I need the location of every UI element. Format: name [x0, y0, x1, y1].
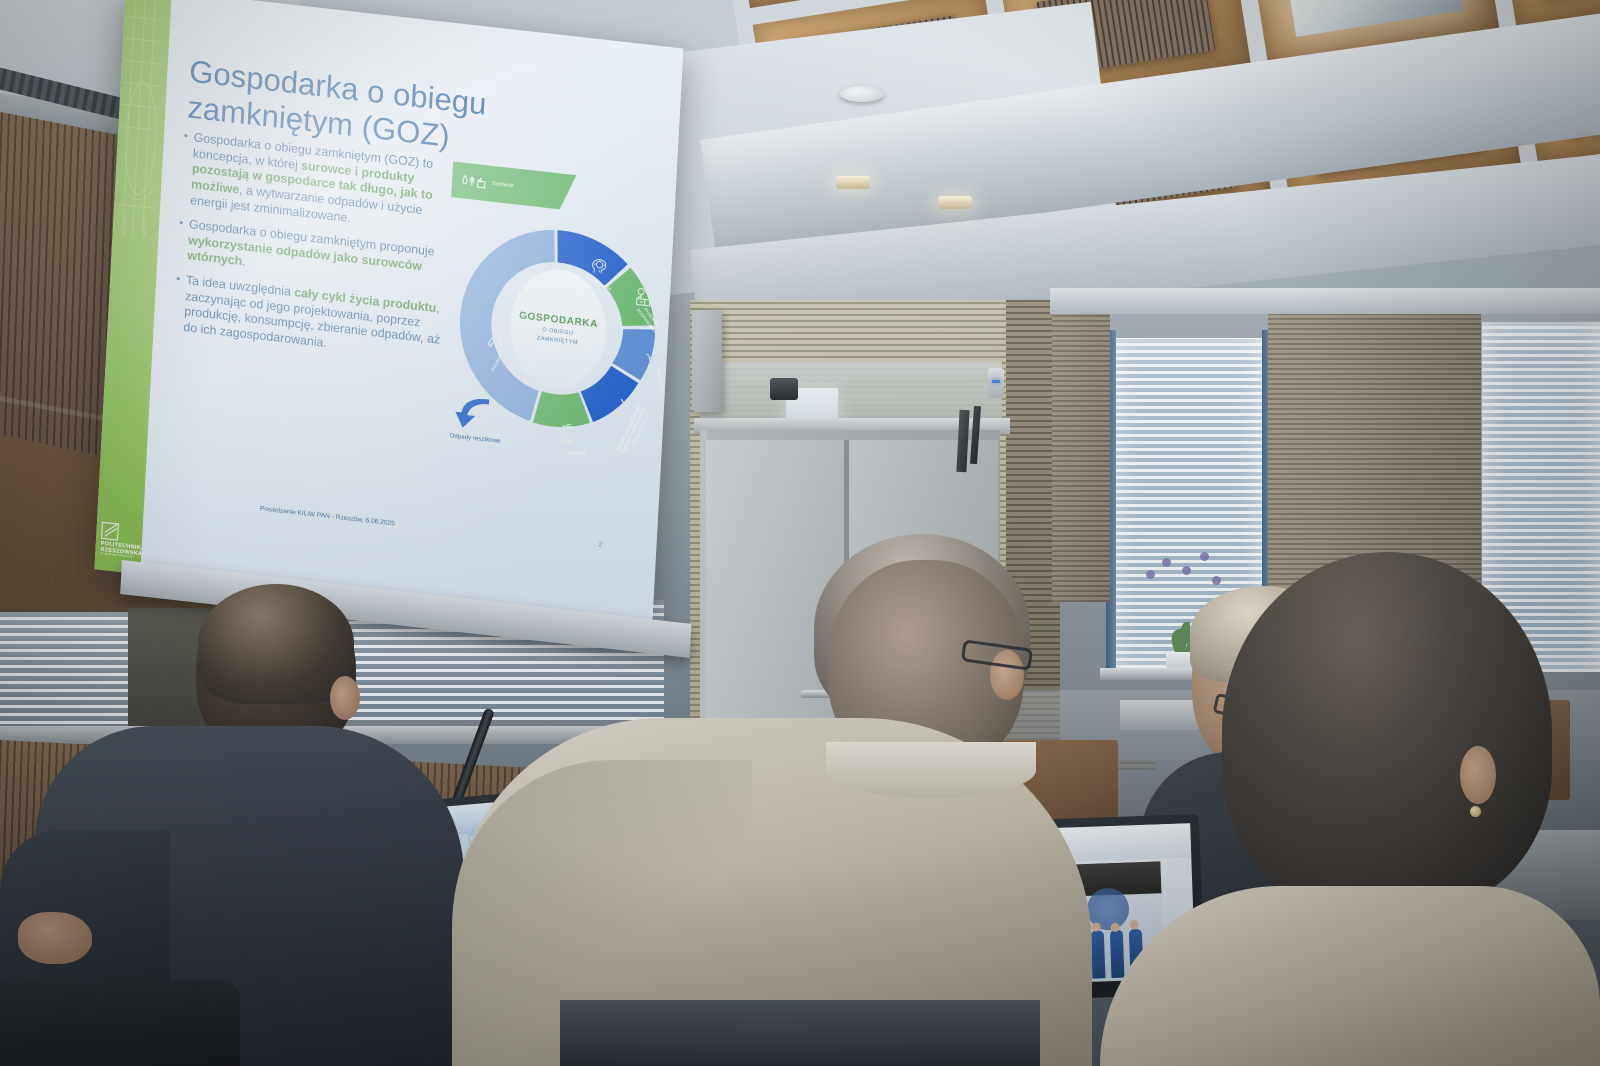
university-mark-icon — [101, 521, 119, 540]
smoke-detector-icon — [840, 86, 884, 102]
window-header-rail — [1050, 288, 1600, 314]
diagram-segment-label-zbieranie: Zbieranie — [553, 450, 599, 456]
circular-economy-diagram: Surowce — [446, 154, 684, 510]
window-blind[interactable] — [1052, 312, 1110, 602]
slide-body: Gospodarka o obiegu zamkniętym (GOZ) •Go… — [140, 0, 683, 632]
presenter-hair — [198, 584, 354, 704]
presenter-hand — [18, 912, 92, 964]
bin-recycle-icon — [558, 420, 579, 444]
robe-figure — [1091, 930, 1106, 979]
bullet-dot-icon: • — [173, 272, 180, 335]
window-blind-left[interactable] — [0, 612, 130, 732]
orchid-flower-icon — [1200, 552, 1209, 561]
projection-screen: KATEDRA DRÓG I MOSTÓW WYDZIAŁ BUDOWNICTW… — [94, 0, 683, 632]
bullet-dot-icon: • — [177, 216, 183, 263]
earring-icon — [1470, 806, 1481, 817]
slide-footer: Posiedzenie KILiW PAN - Rzeszów, 6.06.20… — [260, 505, 395, 527]
presenter-ear — [330, 676, 360, 720]
orchid-flower-icon — [1182, 566, 1191, 575]
orchid-flower-icon — [1162, 558, 1171, 567]
slide-surface: KATEDRA DRÓG I MOSTÓW WYDZIAŁ BUDOWNICTW… — [94, 0, 683, 632]
wall-speaker-icon — [692, 310, 722, 412]
foreground-desk — [560, 1000, 1040, 1066]
photo-face — [1130, 920, 1139, 929]
recessed-light-icon — [1285, 0, 1463, 37]
screenshot-root: KATEDRA DRÓG I MOSTÓW WYDZIAŁ BUDOWNICTW… — [0, 0, 1600, 1066]
bullet-dot-icon: • — [180, 129, 188, 207]
curved-arrow-icon — [455, 395, 491, 433]
robe-figure — [1109, 929, 1124, 978]
motion-sensor-icon — [988, 368, 1004, 398]
diagram-center-line3: ZAMKNIĘTYM — [537, 335, 578, 346]
orchid-flower-icon — [1212, 576, 1221, 585]
diagram-center-line2: O OBIEGU — [542, 327, 574, 337]
attendee-center-collar — [826, 742, 1036, 798]
attendee-right-hair — [1222, 552, 1552, 912]
university-logo: POLITECHNIKA RZESZOWSKA im. Ignacego Łuk… — [100, 521, 140, 560]
projector-icon — [770, 378, 798, 400]
presenter-chair — [0, 980, 240, 1066]
downlight-icon — [938, 196, 972, 209]
head-gear-icon — [589, 255, 610, 277]
downlight-icon — [836, 176, 870, 189]
slide-page-number: 2 — [598, 541, 602, 548]
diagram-center-line1: GOSPODARKA — [519, 310, 598, 330]
attendee-right-ear — [1460, 746, 1496, 804]
orchid-flower-icon — [1146, 570, 1155, 579]
slide-bullet-list: •Gospodarka o obiegu zamkniętym (GOZ) to… — [173, 129, 451, 373]
